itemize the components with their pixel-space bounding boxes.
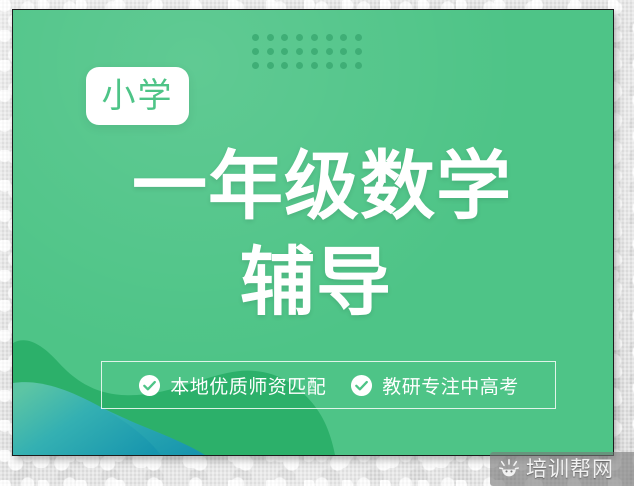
headline: 一年级数学 辅导 (13, 138, 613, 330)
grid-dot (252, 48, 259, 55)
grid-dot (296, 48, 303, 55)
poster-card: 小学 一年级数学 辅导 本地优质师资匹配 教研专注中高考 (12, 9, 614, 456)
sun-face-icon (498, 458, 520, 480)
headline-line-1: 一年级数学 (13, 138, 613, 234)
grid-dot (296, 62, 303, 69)
level-badge-label: 小学 (102, 79, 174, 113)
grid-dot (267, 62, 274, 69)
watermark: 培训帮网 (490, 452, 634, 486)
grid-dot (311, 48, 318, 55)
grid-dot (340, 62, 347, 69)
feature-label-2: 教研专注中高考 (382, 372, 519, 399)
grid-dot (311, 34, 318, 41)
grid-dot (267, 48, 274, 55)
grid-dot (340, 48, 347, 55)
feature-item-1: 本地优质师资匹配 (138, 372, 326, 399)
check-circle-icon (138, 374, 161, 397)
grid-dot (281, 48, 288, 55)
grid-dot (355, 34, 362, 41)
grid-dot (326, 62, 333, 69)
grid-dot (326, 48, 333, 55)
watermark-label: 培训帮网 (526, 459, 614, 480)
grid-dot (311, 62, 318, 69)
dot-grid-decoration (248, 30, 366, 72)
headline-line-2: 辅导 (13, 234, 613, 330)
grid-dot (252, 34, 259, 41)
level-badge: 小学 (86, 67, 189, 125)
grid-dot (326, 34, 333, 41)
feature-label-1: 本地优质师资匹配 (170, 372, 326, 399)
grid-dot (355, 48, 362, 55)
grid-dot (267, 34, 274, 41)
grid-dot (296, 34, 303, 41)
grid-dot (340, 34, 347, 41)
grid-dot (252, 62, 259, 69)
grid-dot (355, 62, 362, 69)
grid-dot (281, 62, 288, 69)
feature-item-2: 教研专注中高考 (350, 372, 519, 399)
features-bar: 本地优质师资匹配 教研专注中高考 (101, 361, 556, 409)
grid-dot (281, 34, 288, 41)
check-circle-icon (350, 374, 373, 397)
